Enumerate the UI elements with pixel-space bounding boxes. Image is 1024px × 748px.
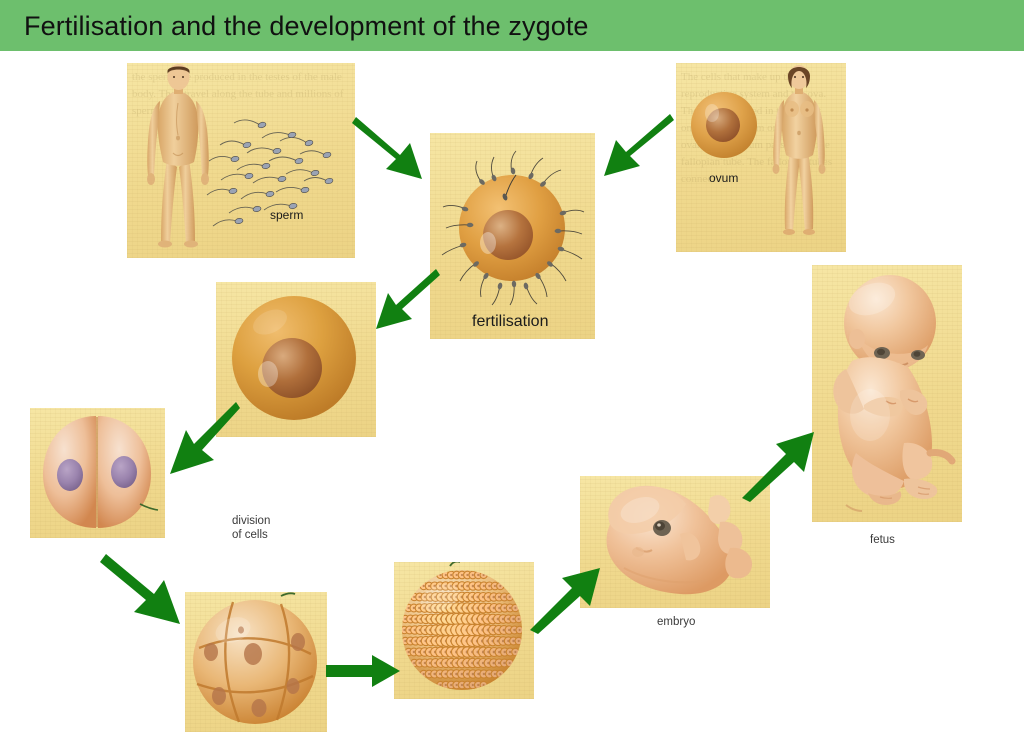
panel-caption-fertilisation: fertilisation bbox=[472, 313, 548, 331]
panel-sperm: the sperm are produced in the testes of … bbox=[127, 63, 355, 258]
arrow-zygote-to-two-cell bbox=[164, 398, 240, 480]
arrow-morula-to-embryo bbox=[526, 556, 604, 634]
morula-illustration bbox=[394, 562, 534, 699]
arrow-two-cell-to-eight-cell bbox=[100, 550, 186, 630]
label-embryo: embryo bbox=[657, 615, 695, 629]
eight-cell-illustration bbox=[185, 592, 327, 732]
zygote-illustration bbox=[216, 282, 376, 437]
two-cell-illustration bbox=[30, 408, 165, 538]
arrow-ovum-to-fertilisation bbox=[594, 110, 674, 182]
panel-caption-ovum: ovum bbox=[709, 171, 738, 185]
arrow-sperm-to-fertilisation bbox=[352, 113, 432, 185]
label-fetus: fetus bbox=[870, 533, 895, 547]
arrow-fertilisation-to-zygote bbox=[368, 265, 440, 335]
panel-eight-cell bbox=[185, 592, 327, 732]
panel-zygote bbox=[216, 282, 376, 437]
ovum-illustration bbox=[676, 63, 846, 252]
sperm-illustration bbox=[127, 63, 355, 258]
panel-fetus bbox=[812, 265, 962, 522]
fetus-illustration bbox=[812, 265, 962, 522]
panel-two-cell bbox=[30, 408, 165, 538]
panel-ovum: The cells that make up the reproductive … bbox=[676, 63, 846, 252]
arrow-eight-cell-to-morula bbox=[326, 655, 400, 687]
title-banner: Fertilisation and the development of the… bbox=[0, 0, 1024, 51]
panel-caption-sperm: sperm bbox=[270, 208, 303, 222]
panel-morula bbox=[394, 562, 534, 699]
panel-fertilisation: fertilisation bbox=[430, 133, 595, 339]
arrow-embryo-to-fetus bbox=[738, 422, 818, 502]
page-title: Fertilisation and the development of the… bbox=[24, 11, 589, 41]
label-division-of-cells: division of cells bbox=[232, 514, 270, 542]
fertilisation-illustration bbox=[430, 133, 595, 339]
